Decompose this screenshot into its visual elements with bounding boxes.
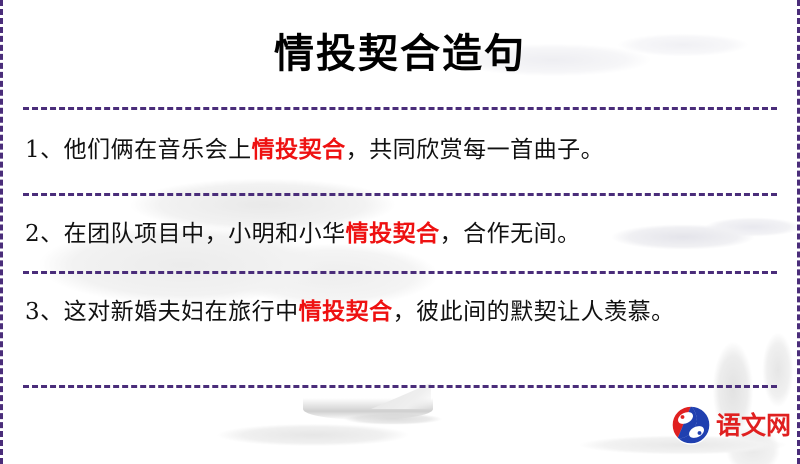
worksheet-page: 情投契合造句 1、他们俩在音乐会上情投契合，共同欣赏每一首曲子。 2、在团队项目… — [0, 0, 800, 464]
divider-1 — [23, 193, 777, 196]
divider-top — [23, 107, 777, 110]
list-item: 2、在团队项目中，小明和小华情投契合，合作无间。 — [25, 212, 773, 256]
sentence-text-before: 在团队项目中，小明和小华 — [64, 221, 346, 247]
sentence-text-after: ，彼此间的默契让人羡慕。 — [393, 299, 675, 325]
sentence-number: 1、 — [25, 137, 64, 163]
keyword-highlight: 情投契合 — [252, 136, 346, 163]
sentence-text-after: ，合作无间。 — [440, 221, 581, 247]
list-item: 1、他们俩在音乐会上情投契合，共同欣赏每一首曲子。 — [25, 128, 773, 172]
logo-text: 语文网 — [716, 413, 791, 438]
site-watermark-logo: 语文网 — [671, 405, 791, 445]
keyword-highlight: 情投契合 — [299, 298, 393, 325]
boat-watermark — [143, 395, 543, 461]
keyword-highlight: 情投契合 — [346, 220, 440, 247]
divider-bottom — [23, 385, 777, 388]
divider-2 — [23, 271, 777, 274]
sentence-number: 3、 — [25, 299, 64, 325]
sentence-text-before: 这对新婚夫妇在旅行中 — [64, 299, 299, 325]
sentence-text-before: 他们俩在音乐会上 — [64, 137, 252, 163]
boat-hull-watermark — [303, 398, 433, 420]
sentence-number: 2、 — [25, 221, 64, 247]
yinyang-fish-logo-icon — [671, 405, 711, 445]
page-title: 情投契合造句 — [3, 28, 797, 80]
sentence-text-after: ，共同欣赏每一首曲子。 — [346, 137, 605, 163]
list-item: 3、这对新婚夫妇在旅行中情投契合，彼此间的默契让人羡慕。 — [25, 290, 773, 334]
